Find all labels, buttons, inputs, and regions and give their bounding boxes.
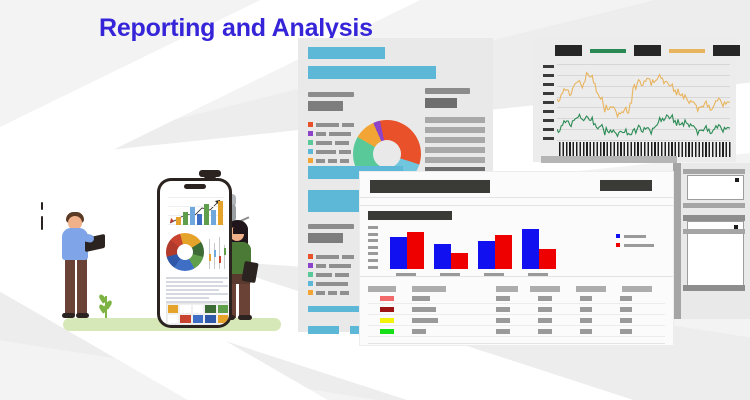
table-header-row — [368, 284, 665, 293]
calendar-cell[interactable] — [167, 314, 179, 324]
y-axis-tick — [543, 65, 554, 68]
donut-left-column-2 — [308, 224, 354, 299]
bar-red — [451, 253, 468, 269]
legend-swatch-blue-icon — [616, 234, 620, 238]
bar-blue — [478, 241, 495, 269]
phone-line-dot — [219, 256, 221, 263]
calendar-cell[interactable] — [167, 304, 179, 314]
text-line — [308, 92, 354, 97]
card-bar — [683, 285, 745, 291]
legend-row — [308, 290, 354, 295]
phone-side-button[interactable] — [41, 202, 43, 210]
column-header — [496, 286, 518, 292]
phone-text-line — [166, 281, 223, 283]
phone-bar — [190, 207, 195, 225]
table-cell — [538, 307, 552, 312]
y-axis-tick — [368, 252, 378, 255]
table-cell — [620, 329, 632, 334]
phone-text-line — [166, 297, 209, 299]
phone-bar — [176, 217, 181, 225]
text-line — [425, 88, 470, 94]
divider — [368, 343, 665, 344]
legend-swatch-icon — [308, 158, 313, 163]
calendar-cell[interactable] — [192, 304, 204, 314]
legend-row — [308, 140, 354, 145]
bar-chart-report-panel — [360, 172, 673, 345]
status-swatch-icon — [380, 307, 394, 312]
calendar-cell[interactable] — [204, 304, 216, 314]
text-line — [425, 137, 485, 143]
y-axis-tick — [543, 128, 554, 131]
bar-group — [478, 235, 512, 269]
y-axis-tick — [368, 233, 378, 236]
man-leg — [65, 258, 75, 316]
phone-text-line — [166, 293, 228, 295]
y-axis-tick — [543, 83, 554, 86]
section-header-bar — [368, 211, 452, 220]
legend-row — [308, 281, 354, 286]
legend-row — [616, 243, 654, 247]
phone-line-markers — [208, 235, 228, 269]
legend-row — [308, 131, 354, 136]
text-line — [308, 224, 354, 229]
y-axis-tick — [368, 259, 378, 262]
man-shoe — [76, 313, 89, 318]
y-axis-tick — [368, 226, 378, 229]
card-bar — [683, 169, 745, 174]
table-cell — [412, 296, 430, 301]
status-swatch-icon — [380, 329, 394, 334]
table-cell — [496, 329, 510, 334]
y-axis-tick — [368, 246, 378, 249]
calendar-cell[interactable] — [179, 314, 191, 324]
y-axis-tick — [543, 74, 554, 77]
smartphone — [157, 178, 232, 328]
right-edge-cards — [673, 163, 750, 319]
phone-line-dot — [209, 254, 211, 261]
y-axis-tick — [543, 110, 554, 113]
bar-red — [539, 249, 556, 269]
table-cell — [412, 318, 438, 323]
phone-donut-chart — [166, 233, 204, 271]
phone-line-marker — [219, 237, 220, 269]
phone-text-line — [166, 289, 219, 291]
legend-swatch-icon — [308, 131, 313, 136]
accent-chip — [308, 326, 339, 334]
table-cell — [496, 318, 510, 323]
bar-red — [495, 235, 512, 269]
y-axis-tick — [543, 101, 554, 104]
phone-calendar-grid — [166, 303, 229, 325]
legend-row — [616, 234, 654, 238]
phone-text-line — [166, 277, 228, 279]
bar-chart-plot — [390, 224, 560, 269]
folder-icon — [241, 261, 258, 283]
y-axis-tick — [543, 119, 554, 122]
phone-line-dot — [214, 250, 216, 257]
table-cell — [580, 307, 592, 312]
table-body — [368, 293, 665, 337]
column-header — [576, 286, 606, 292]
legend-swatch-icon — [308, 254, 313, 259]
legend-swatch-icon — [308, 281, 313, 286]
table-cell — [496, 307, 510, 312]
card-dot-icon — [735, 178, 739, 182]
phone-bar — [218, 201, 223, 225]
gridline — [168, 197, 224, 198]
phone-bar — [211, 210, 216, 225]
table-cell — [580, 296, 592, 301]
donut-right-column — [425, 88, 485, 174]
donut-left-column — [308, 92, 354, 167]
phone-text-line — [166, 285, 228, 287]
column-header — [368, 286, 396, 292]
bar-chart-legend — [616, 234, 654, 252]
phone-bar — [204, 204, 209, 225]
stock-plot-area — [557, 64, 730, 140]
phone-screen[interactable] — [160, 181, 229, 325]
legend-swatch-icon — [308, 149, 313, 154]
legend-block — [713, 45, 740, 56]
data-table — [368, 284, 665, 344]
text-line — [308, 101, 343, 111]
calendar-cell[interactable] — [217, 314, 229, 324]
table-row[interactable] — [368, 293, 665, 304]
calendar-cell[interactable] — [192, 314, 204, 324]
y-axis-tick — [543, 137, 554, 140]
y-axis-tick — [368, 266, 378, 269]
table-cell — [580, 318, 592, 323]
woman-hair-front — [233, 222, 248, 234]
table-cell — [412, 329, 426, 334]
column-header — [412, 286, 446, 292]
analytics-illustration — [45, 168, 300, 340]
legend-swatch-icon — [308, 263, 313, 268]
table-cell — [538, 318, 552, 323]
divider — [360, 205, 673, 206]
panel-shadow — [541, 156, 677, 163]
phone-notch — [184, 184, 206, 189]
text-line — [425, 147, 485, 153]
calendar-cell[interactable] — [217, 304, 229, 314]
legend-swatch-icon — [308, 122, 313, 127]
legend-line-green — [590, 49, 626, 53]
table-cell — [538, 296, 552, 301]
legend-row — [308, 254, 354, 259]
table-row[interactable] — [368, 326, 665, 337]
bar-blue — [390, 237, 407, 269]
panel-title-bar — [308, 47, 385, 59]
side-card[interactable] — [687, 175, 744, 200]
text-line — [425, 157, 485, 163]
card-spine — [673, 163, 681, 319]
man-leg — [77, 258, 87, 316]
legend-block — [555, 45, 582, 56]
phone-bar — [197, 214, 202, 225]
phone-bar — [183, 212, 188, 226]
table-cell — [620, 307, 632, 312]
bar-group — [434, 244, 468, 269]
stock-volume-bars — [559, 142, 732, 157]
divider — [360, 276, 673, 277]
man-shoe — [62, 313, 75, 318]
phone-line-dot — [224, 248, 226, 255]
legend-block — [634, 45, 661, 56]
calendar-cell[interactable] — [204, 314, 216, 324]
phone-volume-button[interactable] — [41, 216, 43, 230]
legend-swatch-icon — [308, 272, 313, 277]
y-axis-tick — [543, 92, 554, 95]
legend-line-orange — [669, 49, 705, 53]
legend-swatch-icon — [308, 290, 313, 295]
text-line — [425, 127, 485, 133]
gridline — [557, 140, 730, 141]
table-row[interactable] — [368, 315, 665, 326]
table-cell — [412, 307, 436, 312]
legend-row — [308, 263, 354, 268]
text-line — [308, 233, 343, 243]
legend-row — [308, 272, 354, 277]
divider — [360, 197, 673, 198]
stock-legend — [555, 45, 740, 56]
status-swatch-icon — [380, 318, 394, 323]
text-line — [425, 117, 485, 123]
table-row[interactable] — [368, 304, 665, 315]
table-cell — [620, 296, 632, 301]
table-cell — [580, 329, 592, 334]
status-swatch-icon — [380, 296, 394, 301]
bar-blue — [434, 244, 451, 269]
panel-header-badge — [600, 180, 652, 191]
bar-red — [407, 232, 424, 269]
legend-row — [308, 149, 354, 154]
gridline — [168, 206, 224, 207]
y-axis-tick — [368, 239, 378, 242]
phone-bar-chart — [168, 197, 224, 225]
bar-group — [390, 232, 424, 269]
legend-swatch-red-icon — [616, 243, 620, 247]
panel-subtitle-bar — [308, 66, 436, 79]
market-line-chart-panel — [533, 38, 736, 162]
table-cell — [538, 329, 552, 334]
screenshot-stage: Reporting and Analysis — [0, 0, 750, 400]
legend-row — [308, 158, 354, 163]
clock-hand-icon — [185, 252, 191, 253]
legend-row — [308, 122, 354, 127]
card-bar — [683, 203, 745, 208]
stock-series-svg — [557, 64, 730, 140]
column-header — [530, 286, 560, 292]
text-line — [425, 98, 457, 108]
clock-hand-icon — [184, 245, 185, 253]
bar-group — [522, 229, 556, 269]
bar-blue — [522, 229, 539, 269]
table-cell — [620, 318, 632, 323]
calendar-cell[interactable] — [179, 304, 191, 314]
legend-swatch-icon — [308, 140, 313, 145]
column-header — [622, 286, 652, 292]
woman-shoe — [238, 315, 252, 320]
panel-header-bar — [370, 180, 490, 193]
table-cell — [496, 296, 510, 301]
card-bar — [683, 229, 745, 234]
